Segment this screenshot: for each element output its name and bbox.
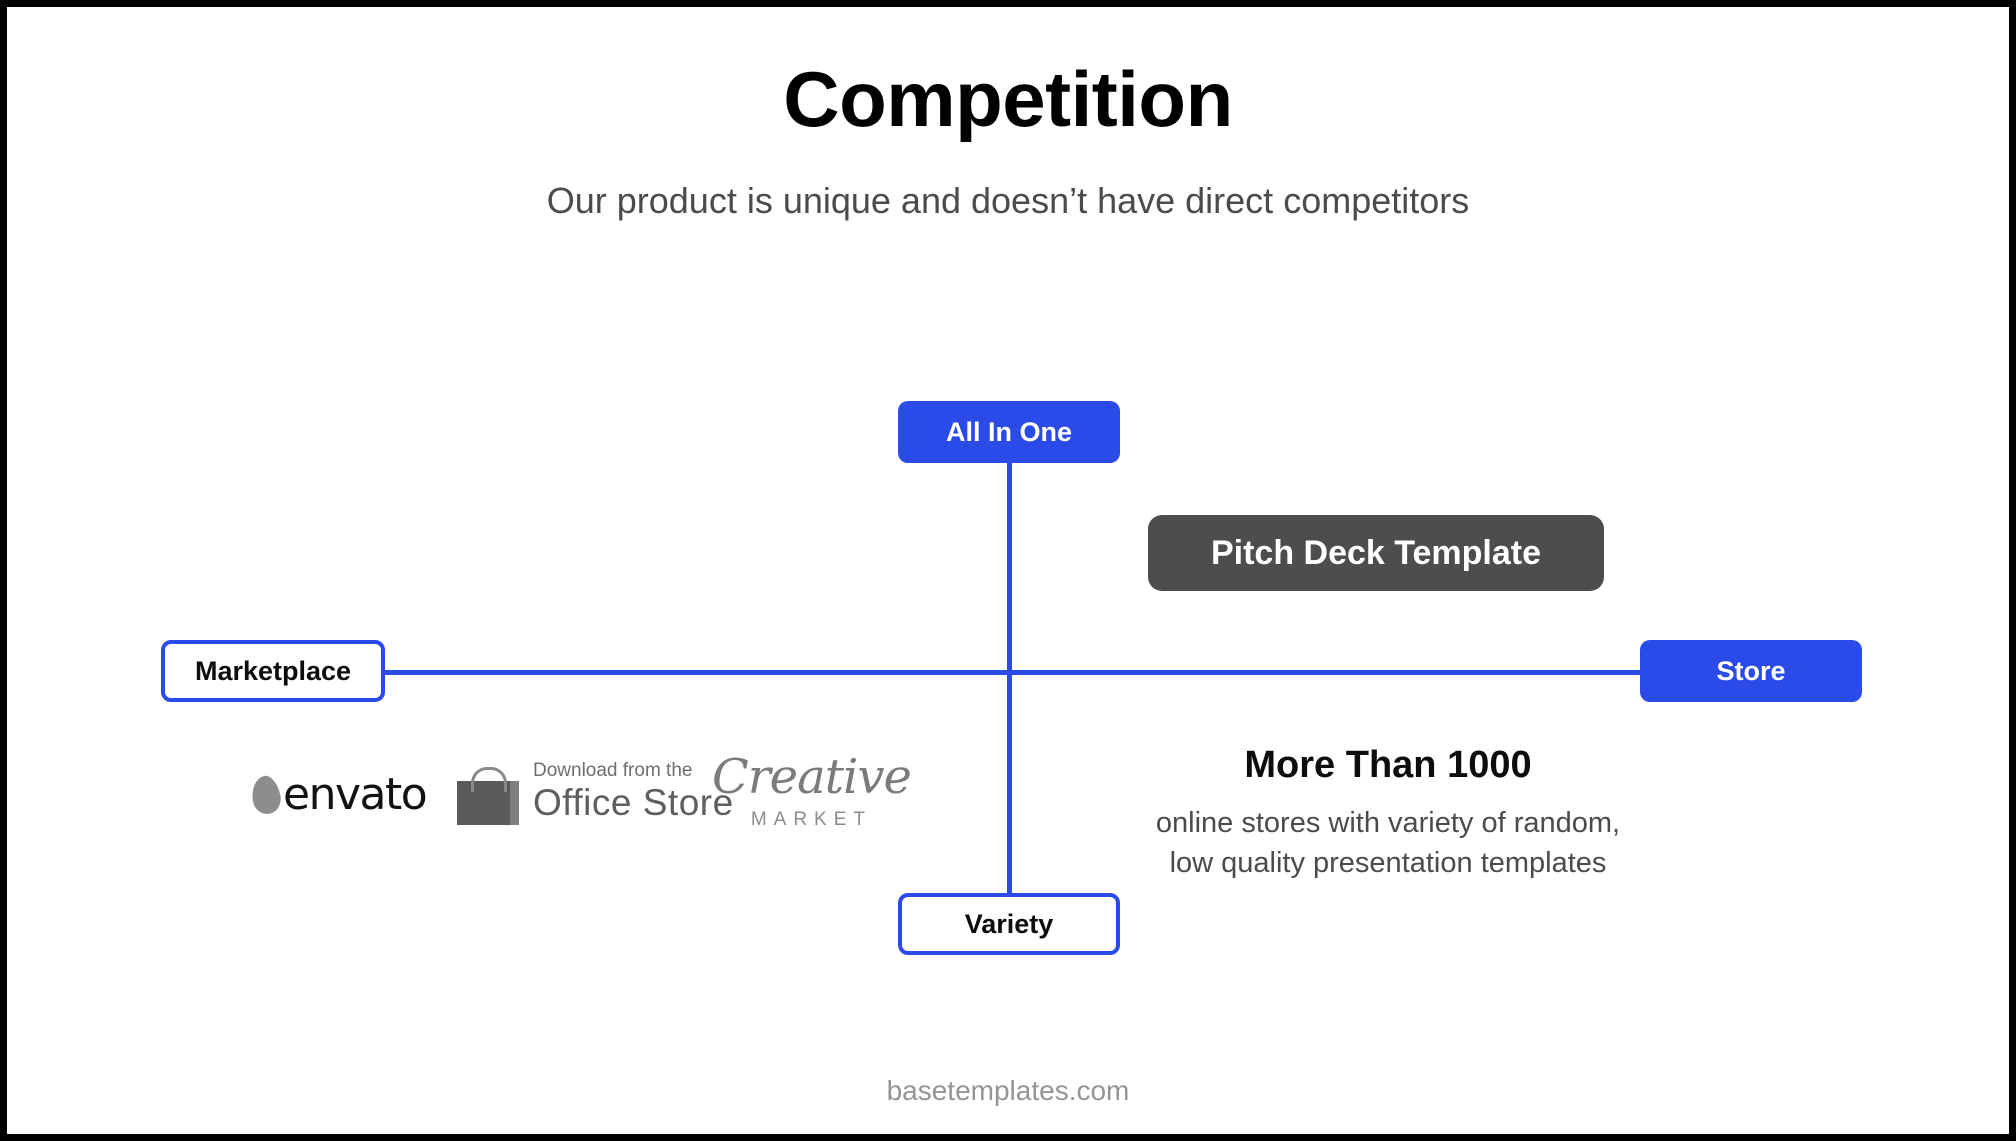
axis-label-variety[interactable]: Variety [898, 893, 1120, 955]
axis-label-variety-text: Variety [965, 911, 1054, 938]
logo-creative-market-subword: MARKET [751, 809, 872, 831]
logo-office-store-wordmark: Office Store [533, 784, 734, 821]
footer-brand: basetemplates.com [7, 1075, 2009, 1107]
axis-label-all-in-one[interactable]: All In One [898, 401, 1120, 463]
axis-label-all-in-one-text: All In One [946, 419, 1072, 446]
logo-office-store-tagline: Download from the [533, 761, 734, 780]
shopping-bag-icon [457, 767, 519, 825]
competitor-stat-block: More Than 1000 online stores with variet… [1117, 745, 1659, 883]
envato-leaf-icon [248, 773, 283, 816]
logo-office-store: Download from the Office Store [457, 757, 734, 825]
our-product-label: Pitch Deck Template [1211, 536, 1541, 570]
logo-creative-market-wordmark: Creative [712, 753, 911, 801]
our-product-badge[interactable]: Pitch Deck Template [1148, 515, 1604, 591]
slide-canvas: Competition Our product is unique and do… [7, 7, 2009, 1134]
stat-description-line-1: online stores with variety of random, [1117, 803, 1659, 843]
logo-office-store-text: Download from the Office Store [533, 761, 734, 821]
axis-label-store-text: Store [1716, 658, 1785, 685]
matrix-horizontal-axis [378, 670, 1644, 675]
stat-description-line-2: low quality presentation templates [1117, 843, 1659, 883]
shopping-bag-handle [471, 767, 507, 792]
stat-headline: More Than 1000 [1117, 745, 1659, 787]
competitor-logo-row: envato Download from the Office Store Cr… [207, 747, 1007, 847]
stat-description: online stores with variety of random, lo… [1117, 803, 1659, 883]
axis-label-marketplace-text: Marketplace [195, 658, 351, 685]
axis-label-marketplace[interactable]: Marketplace [161, 640, 385, 702]
page-subtitle: Our product is unique and doesn’t have d… [7, 179, 2009, 222]
logo-envato: envato [252, 769, 426, 820]
matrix-vertical-axis [1007, 445, 1012, 905]
shopping-bag-fold [510, 781, 519, 825]
page-title: Competition [7, 59, 2009, 141]
logo-envato-wordmark: envato [283, 769, 426, 820]
logo-creative-market: Creative MARKET [712, 753, 911, 831]
axis-label-store[interactable]: Store [1640, 640, 1862, 702]
